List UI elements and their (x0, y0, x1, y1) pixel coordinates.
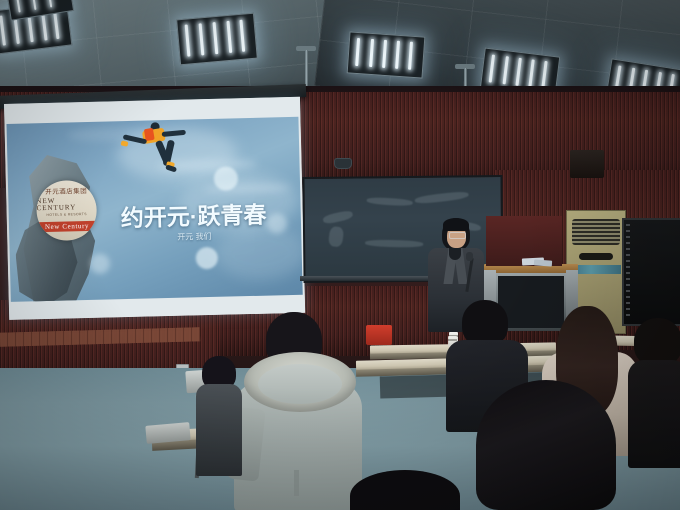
bokeh-dot-4 (90, 253, 110, 273)
whiteboard-mark-5 (328, 226, 344, 248)
audience-hair-5 (634, 318, 680, 366)
audience-member-parka (228, 312, 368, 510)
wall-speaker (570, 150, 604, 178)
logo-ribbon: New Century (36, 220, 97, 232)
ac-decal (571, 265, 621, 274)
chair-back-front (145, 422, 190, 444)
ceiling-light-3 (347, 31, 426, 78)
audience-parka-zipper-icon (294, 470, 299, 496)
jumping-figure (107, 121, 200, 175)
presenter-glasses (449, 232, 466, 239)
slide-subtitle: 开元 我们 (177, 231, 211, 243)
ac-vent-slot (579, 253, 613, 260)
logo-english-name: NEW CENTURY (36, 197, 96, 212)
audience-coat-right-edge (628, 360, 680, 468)
audience-hair-4 (476, 380, 616, 510)
microphone-head-icon (466, 252, 473, 261)
slide-content: 开元酒店集团 NEW CENTURY HOTELS & RESORTS New … (6, 117, 302, 302)
slide-title: 约开元·跃青春 (120, 196, 266, 234)
presenter-hair-front (443, 218, 469, 231)
cloud-3 (215, 225, 303, 281)
audience-member-left-edge (196, 356, 242, 476)
projection-screen: 开元酒店集团 NEW CENTURY HOTELS & RESORTS New … (4, 97, 305, 320)
audience-member-right-edge (628, 318, 680, 468)
logo-english-sub: HOTELS & RESORTS (46, 213, 87, 217)
classroom-photo: 开元酒店集团 NEW CENTURY HOTELS & RESORTS New … (0, 0, 680, 510)
figure-cuff-left (121, 140, 129, 146)
bokeh-dot-3 (196, 247, 219, 270)
audience-member-bottom-center (350, 470, 460, 510)
audience-hair-6 (350, 470, 460, 510)
papers-on-lectern-2 (534, 259, 552, 266)
whiteboard-mark-3 (414, 191, 469, 205)
audience-member-foreground (476, 380, 626, 510)
figure-arm-right (162, 130, 186, 137)
figure-shoe (165, 164, 177, 172)
presenter-collar (449, 248, 461, 260)
audience-hood-inner (258, 364, 342, 404)
whiteboard-mark-1 (322, 210, 353, 225)
logo-chinese-name: 开元酒店集团 (45, 189, 87, 197)
audience-coat-left-edge (196, 384, 242, 476)
whiteboard-mark-4 (365, 239, 423, 247)
monitor-bezel-dots (626, 224, 630, 316)
red-stool (366, 325, 392, 345)
ac-grille (572, 219, 620, 245)
whiteboard-mark-2 (367, 197, 413, 207)
ceiling-light-2 (176, 13, 258, 66)
wall-camera-icon (334, 158, 352, 169)
